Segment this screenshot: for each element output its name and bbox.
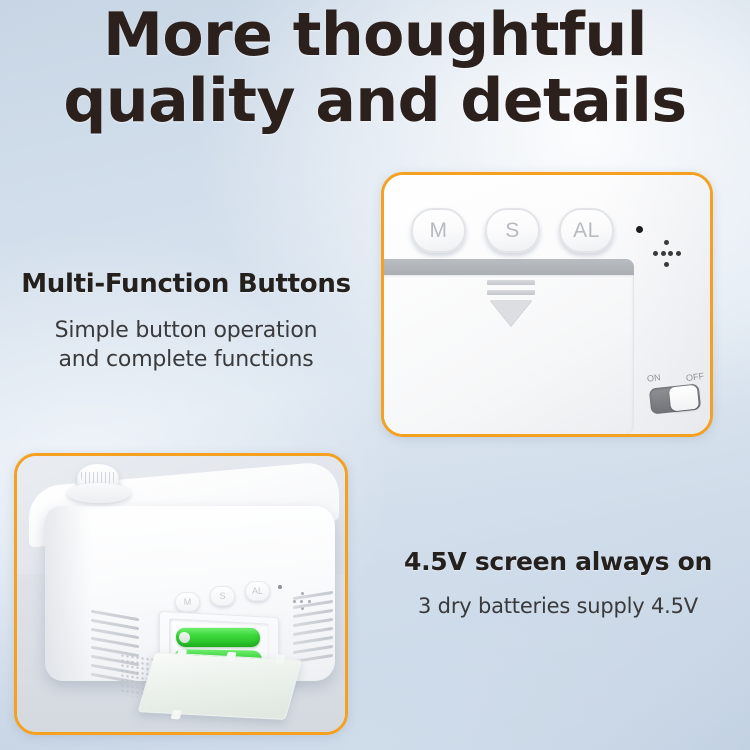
rear-sensor-dot-icon (278, 585, 282, 589)
feature-desc-buttons-line-1: Simple button operation (0, 316, 372, 345)
vent-slot (293, 636, 333, 645)
rear-button-s[interactable]: S (210, 586, 235, 606)
device-button-s[interactable]: S (485, 208, 540, 253)
top-photo-scene: M S AL (384, 175, 710, 434)
device-button-al[interactable]: AL (559, 208, 614, 253)
headline-line-1: More thoughtful (0, 2, 750, 68)
bottom-photo-scene: M S AL (17, 456, 345, 732)
cover-tab (176, 649, 187, 658)
cover-tab (225, 652, 236, 661)
product-photo-buttons-closeup: M S AL (381, 172, 713, 437)
switch-label-off: OFF (685, 371, 704, 383)
power-switch[interactable]: ON OFF (642, 371, 713, 417)
vent-slot (293, 645, 333, 654)
dot-cluster-dot (664, 240, 669, 245)
headline-line-2: quality and details (0, 68, 750, 134)
battery-cover-lid (138, 652, 303, 720)
switch-knob[interactable] (669, 385, 699, 412)
vent-slot (293, 618, 333, 627)
arrow-bar (487, 290, 535, 295)
dot-cluster-dot (676, 251, 681, 256)
battery-terminal (179, 632, 191, 643)
rear-button-m[interactable]: M (175, 592, 200, 612)
dot-cluster-icon (652, 239, 682, 269)
feature-block-power: 4.5V screen always on 3 dry batteries su… (366, 546, 750, 621)
feature-desc-buttons-line-2: and complete functions (0, 345, 372, 374)
page-headline: More thoughtful quality and details (0, 2, 750, 134)
rear-button-s-label: S (219, 591, 225, 601)
rear-button-m-label: M (184, 597, 192, 607)
knob-base (67, 483, 131, 503)
vent-slot (293, 609, 333, 618)
vent-slot (293, 600, 333, 609)
battery-cell (176, 628, 261, 647)
cover-tab (274, 655, 285, 664)
feature-title-buttons: Multi-Function Buttons (0, 268, 372, 300)
vent-grille-right (293, 591, 333, 663)
device-button-al-label: AL (573, 219, 600, 243)
dot-cluster-dot (661, 251, 666, 256)
body-shading (45, 506, 91, 681)
product-photo-battery-compartment: M S AL (14, 453, 348, 735)
arrow-bar (487, 280, 535, 285)
feature-title-power: 4.5V screen always on (366, 546, 750, 578)
arrow-triangle (490, 300, 532, 326)
photo-inner-top: M S AL (384, 175, 710, 434)
photo-inner-bottom: M S AL (17, 456, 345, 732)
switch-label-on: ON (646, 372, 661, 384)
switch-track[interactable] (649, 383, 701, 414)
feature-block-buttons: Multi-Function Buttons Simple button ope… (0, 268, 372, 374)
dot-cluster-dot (664, 262, 669, 267)
rear-button-al-label: AL (252, 586, 263, 596)
dot-cluster-dot (653, 251, 658, 256)
device-button-s-label: S (505, 219, 520, 243)
rear-button-al[interactable]: AL (245, 581, 270, 601)
sensor-dot-icon (636, 226, 643, 233)
feature-desc-power-line-1: 3 dry batteries supply 4.5V (366, 592, 750, 621)
feature-desc-power: 3 dry batteries supply 4.5V (366, 592, 750, 621)
device-button-m-label: M (430, 219, 448, 243)
vent-slot (293, 627, 333, 636)
device-button-m[interactable]: M (411, 208, 466, 253)
down-arrow-icon (487, 280, 537, 328)
dot-cluster-dot (668, 251, 673, 256)
feature-desc-buttons: Simple button operation and complete fun… (0, 316, 372, 374)
